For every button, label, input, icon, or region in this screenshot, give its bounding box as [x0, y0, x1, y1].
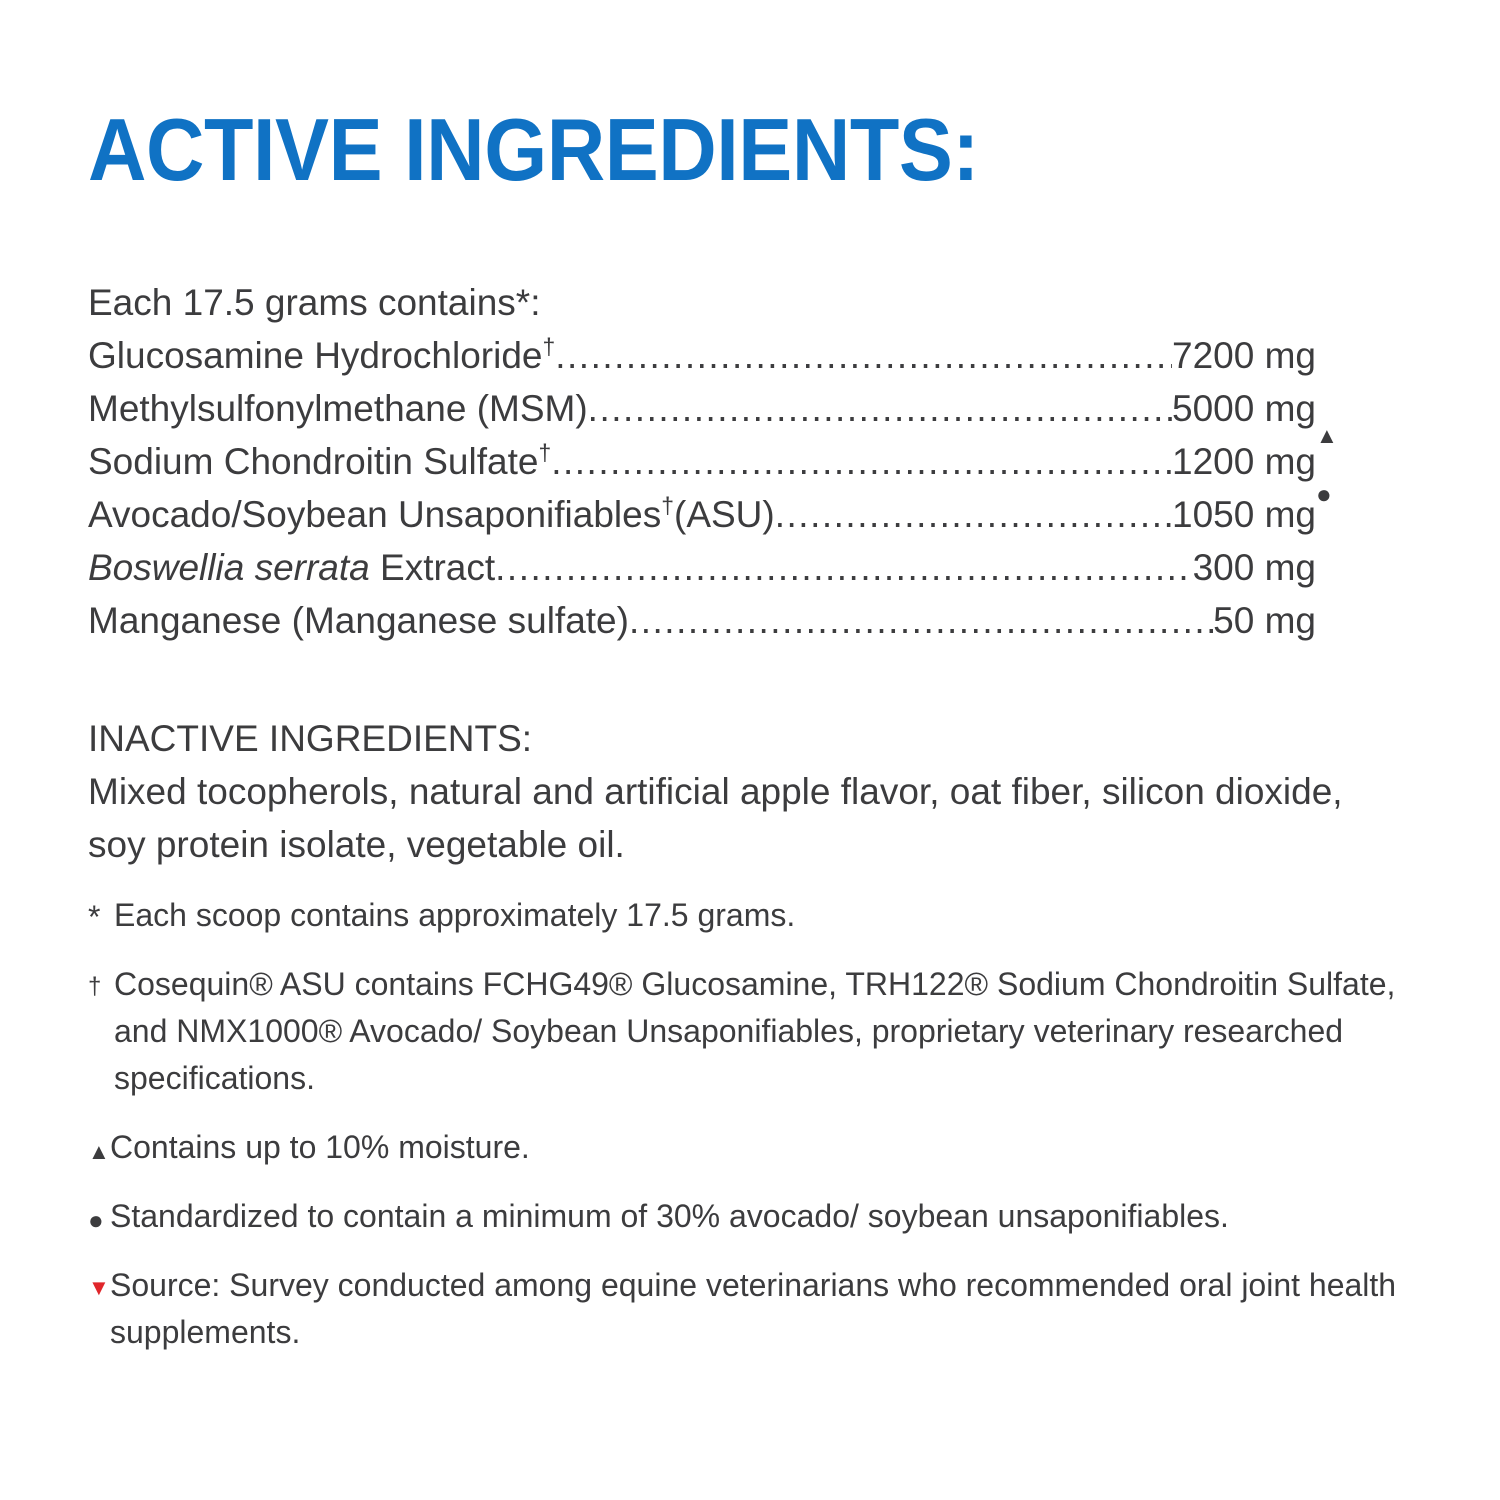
ingredient-name: Manganese (Manganese sulfate): [88, 594, 629, 647]
ingredient-row: Methylsulfonylmethane (MSM) ............…: [88, 382, 1316, 435]
ingredient-row: Glucosamine Hydrochloride†..............…: [88, 329, 1316, 382]
ingredient-amount: 300 mg: [1193, 541, 1316, 594]
dagger-footnote-marker: †: [538, 440, 551, 466]
dot-leader: ........................................…: [495, 541, 1192, 594]
dot-leader: ........................................…: [588, 382, 1172, 435]
footnote-marker-icon: †: [88, 963, 114, 1010]
ingredient-amount: 7200 mg: [1172, 329, 1316, 382]
ingredient-name: Avocado/Soybean Unsaponifiables†(ASU): [88, 488, 775, 541]
ingredient-amount: 50 mg: [1213, 594, 1316, 647]
footnote-marker-icon: ▼: [88, 1264, 110, 1311]
ingredient-row: Boswellia serrata Extract ..............…: [88, 541, 1316, 594]
dagger-footnote-marker: †: [661, 493, 674, 519]
ingredient-rows: Glucosamine Hydrochloride†..............…: [88, 329, 1316, 647]
footnote-text: Source: Survey conducted among equine ve…: [110, 1262, 1408, 1356]
active-ingredients-list: Each 17.5 grams contains*: Glucosamine H…: [88, 276, 1316, 647]
footnote: ▼Source: Survey conducted among equine v…: [88, 1262, 1408, 1356]
dot-leader: ........................................…: [629, 594, 1213, 647]
footnote-text: Contains up to 10% moisture.: [110, 1124, 1408, 1171]
ingredient-row: Avocado/Soybean Unsaponifiables†(ASU) ..…: [88, 488, 1316, 541]
ingredient-amount: 1050 mg●: [1172, 488, 1316, 541]
footnote-marker-icon: ▲: [88, 1128, 110, 1175]
footnote-text: Cosequin® ASU contains FCHG49® Glucosami…: [114, 961, 1408, 1102]
ingredient-name: Glucosamine Hydrochloride†: [88, 329, 555, 382]
inactive-ingredients-section: INACTIVE INGREDIENTS: Mixed tocopherols,…: [88, 712, 1388, 871]
inactive-ingredients-heading: INACTIVE INGREDIENTS:: [88, 712, 1388, 765]
ingredient-name: Methylsulfonylmethane (MSM): [88, 382, 588, 435]
supplement-label-panel: ACTIVE INGREDIENTS: Each 17.5 grams cont…: [0, 0, 1500, 1500]
footnote-marker-icon: *: [88, 894, 114, 941]
dot-leader: ........................................…: [555, 329, 1172, 382]
ingredient-name: Boswellia serrata Extract: [88, 541, 495, 594]
footnotes-section: *Each scoop contains approximately 17.5 …: [88, 892, 1408, 1378]
ingredient-name: Sodium Chondroitin Sulfate†: [88, 435, 551, 488]
ingredient-row: Manganese (Manganese sulfate)...........…: [88, 594, 1316, 647]
footnote: ●Standardized to contain a minimum of 30…: [88, 1193, 1408, 1240]
ingredient-row: Sodium Chondroitin Sulfate†.............…: [88, 435, 1316, 488]
footnote: *Each scoop contains approximately 17.5 …: [88, 892, 1408, 939]
inactive-ingredients-body: Mixed tocopherols, natural and artificia…: [88, 765, 1388, 871]
footnote-marker-icon: ●: [88, 1197, 110, 1244]
dagger-footnote-marker: †: [542, 334, 555, 360]
dot-leader: ........................................…: [551, 435, 1172, 488]
ingredient-amount: 1200 mg▲: [1172, 435, 1316, 488]
dot-leader: ........................................…: [775, 488, 1172, 541]
footnote-text: Each scoop contains approximately 17.5 g…: [114, 892, 1408, 939]
serving-size-line: Each 17.5 grams contains*:: [88, 276, 1316, 329]
footnote: †Cosequin® ASU contains FCHG49® Glucosam…: [88, 961, 1408, 1102]
page-title: ACTIVE INGREDIENTS:: [88, 106, 979, 194]
footnote: ▲Contains up to 10% moisture.: [88, 1124, 1408, 1171]
ingredient-amount: 5000 mg: [1172, 382, 1316, 435]
footnote-text: Standardized to contain a minimum of 30%…: [110, 1193, 1408, 1240]
